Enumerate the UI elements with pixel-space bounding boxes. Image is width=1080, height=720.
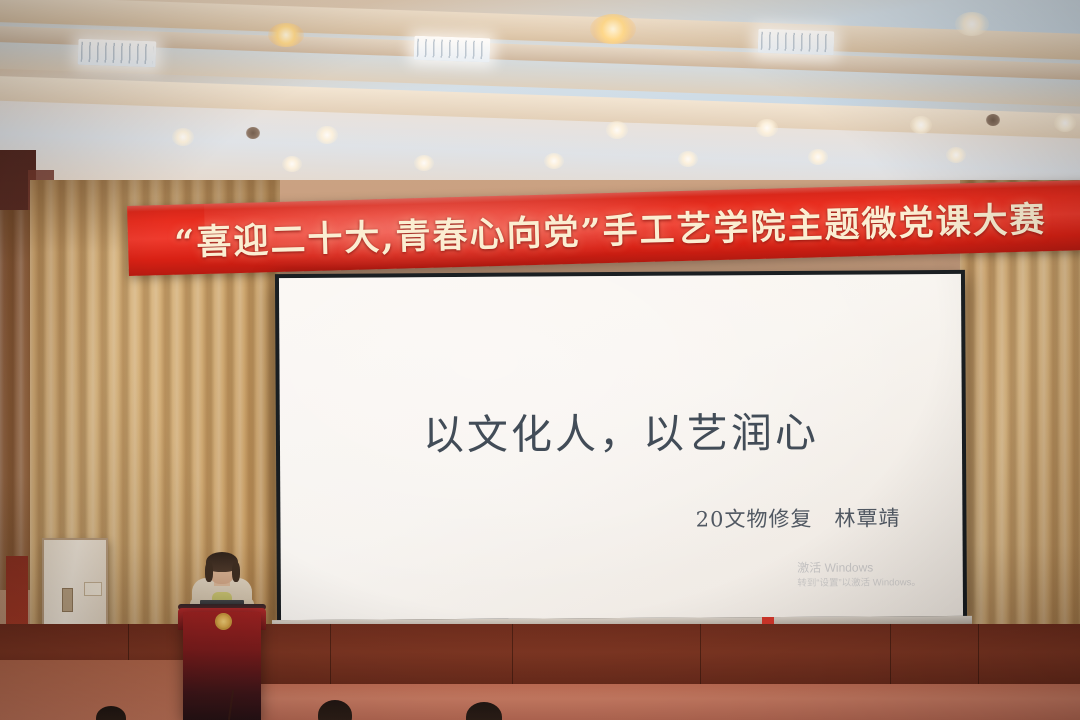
downlight-icon [946,147,966,163]
panel-light-icon [78,39,157,68]
projection-screen-frame: 以文化人，以艺润心 20文物修复 林覃靖 激活 Windows 转到“设置”以激… [275,270,967,624]
downlight-icon [172,128,194,146]
downlight-icon [282,156,302,172]
downlight-icon [808,149,828,165]
watermark-line-1: 激活 Windows [797,559,921,577]
downlight-icon [414,155,434,171]
watermark-line-2: 转到“设置”以激活 Windows。 [797,576,921,591]
downlight-icon [910,116,932,134]
slide-subtitle: 20文物修复 林覃靖 [696,502,901,533]
projection-screen: 以文化人，以艺润心 20文物修复 林覃靖 激活 Windows 转到“设置”以激… [279,274,963,620]
downlight-icon [544,153,564,169]
curtain-right [960,180,1080,700]
downlight-icon [1054,114,1076,132]
cool-spotlight-icon [955,12,989,36]
downlight-icon [316,126,338,144]
rail-marker-icon [762,617,774,624]
slide-title: 以文化人，以艺润心 [280,398,962,462]
ceiling-speaker-icon [246,127,260,139]
warm-spotlight-icon [590,14,636,44]
presentation-photo-scene: “喜迎二十大,青春心向党”手工艺学院主题微党课大赛 以文化人，以艺润心 20文物… [0,0,1080,720]
windows-activation-watermark: 激活 Windows 转到“设置”以激活 Windows。 [797,559,921,591]
ceiling [0,0,1080,200]
speaker-hair-side [232,562,240,582]
panel-light-icon [758,29,835,56]
podium-emblem-icon [215,613,232,630]
downlight-icon [678,151,698,167]
panel-light-icon [414,36,491,63]
warm-spotlight-icon [268,23,304,47]
cabinet-handle-icon [62,588,73,612]
downlight-icon [606,121,628,139]
downlight-icon [756,119,778,137]
ceiling-speaker-icon [986,114,1000,126]
speaker-hair-side [205,562,213,582]
cabinet-label [84,582,102,596]
